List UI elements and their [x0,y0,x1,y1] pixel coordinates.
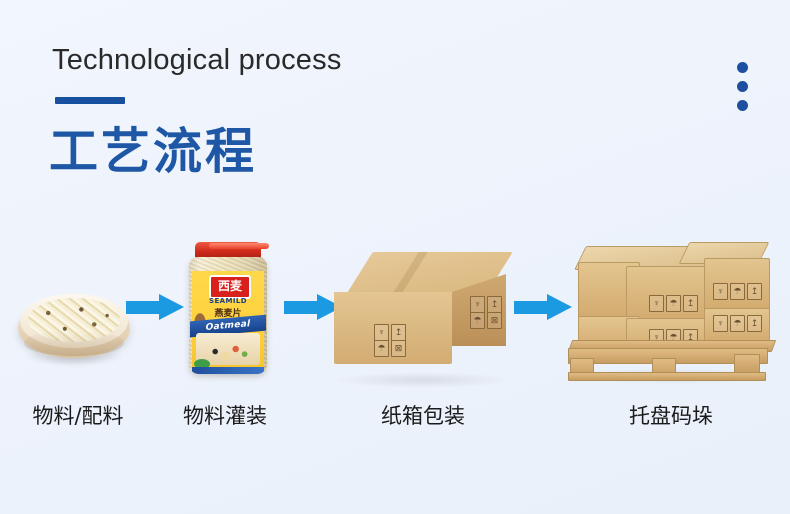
pallet-box-symbols: ♆ ☂ ↥ [713,283,762,300]
pallet-box: ♆ ☂ ↥ [704,308,770,344]
fragile-icon: ♆ [713,315,728,332]
no-stack-icon: ⊠ [391,340,406,357]
title-divider [55,97,125,104]
jar-lid-top [209,243,269,249]
step-label-material-filling: 物料灌装 [158,400,292,430]
brand-name-english: SEAMILD [204,297,252,305]
carton-shadow [334,372,510,388]
arrow-3-icon [514,294,574,320]
bowl-of-oats-icon [14,284,134,364]
page-title-chinese: 工艺流程 [49,112,257,183]
umbrella-icon: ☂ [470,312,485,329]
arrow-1-icon [126,294,186,320]
fragile-icon: ♆ [713,283,728,300]
this-way-up-icon: ↥ [391,324,406,341]
step-pallet-stacking: ♆ ☂ ↥ ♆ ☂ ↥ ♆ ☂ [566,240,776,380]
menu-dots[interactable] [737,62,748,111]
pallet-stack-icon: ♆ ☂ ↥ ♆ ☂ ↥ ♆ ☂ [566,240,776,380]
step-label-material-ingredients: 物料/配料 [4,400,152,430]
pallet-box-symbols: ♆ ☂ ↥ [649,295,698,312]
label-bottom-strip [192,367,264,374]
pallet-bottom-board [568,372,766,381]
process-flow-row: 西麦 SEAMILD 燕麦片 Oatmeal [0,232,790,392]
carton-symbols-front: ♆ ↥ [374,324,406,341]
this-way-up-icon: ↥ [487,296,502,313]
pallet-box: ♆ ☂ ↥ [704,258,770,312]
step-material-ingredients [14,284,134,364]
bowl-shading [24,330,124,356]
no-stack-icon: ⊠ [487,312,502,329]
pallet-box-symbols: ♆ ☂ ↥ [713,315,762,332]
carton-symbols-side: ♆ ↥ [470,296,502,313]
carton-box-icon: ♆ ↥ ☂ ⊠ ♆ ↥ ☂ ⊠ [334,252,509,372]
dot-icon [737,81,748,92]
brand-badge: 西麦 [209,275,251,299]
this-way-up-icon: ↥ [747,315,762,332]
pallet-block [734,354,760,374]
fragile-icon: ♆ [374,324,389,341]
step-carton-packing: ♆ ↥ ☂ ⊠ ♆ ↥ ☂ ⊠ [334,252,509,372]
jar-label: 西麦 SEAMILD 燕麦片 Oatmeal [192,271,264,369]
umbrella-icon: ☂ [666,295,681,312]
fragile-icon: ♆ [470,296,485,313]
arrow-head [159,294,184,320]
umbrella-icon: ☂ [374,340,389,357]
umbrella-icon: ☂ [730,283,745,300]
this-way-up-icon: ↥ [747,283,762,300]
umbrella-icon: ☂ [730,315,745,332]
carton-symbols-front-2: ☂ ⊠ [374,340,406,357]
fragile-icon: ♆ [649,295,664,312]
step-label-pallet-stacking: 托盘码垛 [604,400,738,430]
step-material-filling: 西麦 SEAMILD 燕麦片 Oatmeal [184,242,272,374]
oatmeal-jar-icon: 西麦 SEAMILD 燕麦片 Oatmeal [184,242,272,374]
page-title-english: Technological process [52,44,342,77]
carton-symbols-side-2: ☂ ⊠ [470,312,502,329]
step-label-carton-packing: 纸箱包装 [356,400,490,430]
process-flow-page: Technological process 工艺流程 [0,0,790,514]
carton-front-face: ♆ ↥ ☂ ⊠ [334,292,452,364]
step-label-row: 物料/配料 物料灌装 纸箱包装 托盘码垛 [0,400,790,440]
dot-icon [737,100,748,111]
dot-icon [737,62,748,73]
pallet-box: ♆ ☂ ↥ [626,266,706,322]
this-way-up-icon: ↥ [683,295,698,312]
jar-body: 西麦 SEAMILD 燕麦片 Oatmeal [189,257,267,374]
